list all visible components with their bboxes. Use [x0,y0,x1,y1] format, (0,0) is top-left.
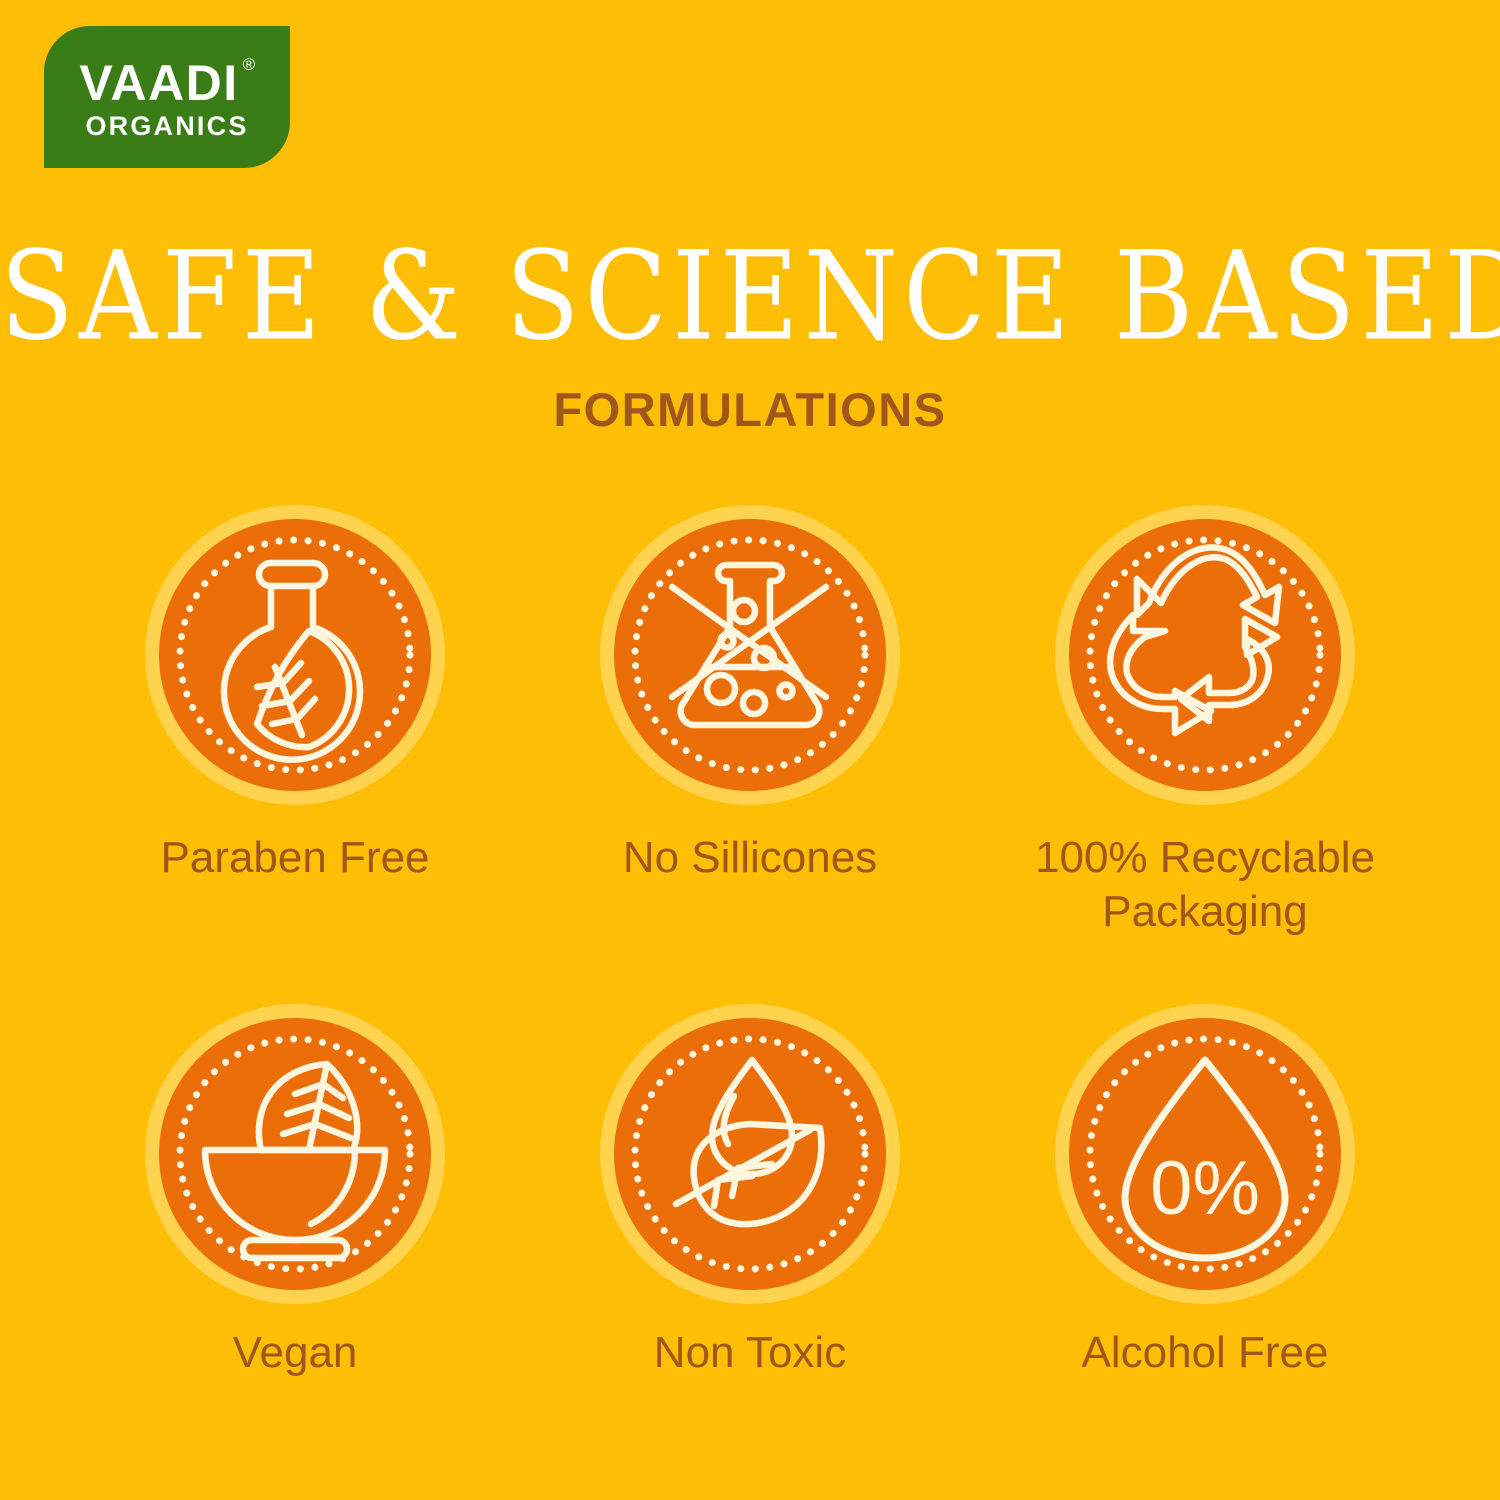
page-title: SAFE & SCIENCE BASED [0,236,1500,359]
badge-circle [145,505,445,805]
flask-leaf-icon [159,519,431,791]
recycle-icon [1069,519,1341,791]
brand-name: VAADI® [79,59,254,108]
droplet-zero-label: 0% [1150,1146,1260,1231]
brand-logo: VAADI® ORGANICS [44,26,290,168]
badge-label: No Sillicones [623,831,877,885]
badge-label: Vegan [233,1326,358,1380]
badge-label: Non Toxic [654,1326,846,1380]
badge-item-vegan: Vegan [68,1004,523,1380]
badge-item-non-toxic: Non Toxic [523,1004,978,1380]
page-subtitle: FORMULATIONS [0,386,1500,433]
badge-circle [600,505,900,805]
badge-circle [145,1004,445,1304]
badge-item-paraben-free: Paraben Free [68,505,523,885]
badge-row-bottom: Vegan [0,1004,1500,1380]
brand-tagline: ORGANICS [85,113,248,140]
crossed-flask-icon [614,519,886,791]
badge-circle: 0% [1055,1004,1355,1304]
badge-label: Paraben Free [160,831,429,885]
feature-badge-grid: Paraben Free [0,505,1500,1380]
badge-circle [1055,505,1355,805]
badge-row-top: Paraben Free [0,505,1500,938]
droplet-leaf-icon [614,1018,886,1290]
registered-trademark-icon: ® [243,57,257,74]
badge-label: Alcohol Free [1081,1326,1328,1380]
bowl-leaf-icon [159,1018,431,1290]
badge-item-recyclable: 100% Recyclable Packaging [978,505,1433,938]
badge-item-alcohol-free: 0% Alcohol Free [978,1004,1433,1380]
badge-circle [600,1004,900,1304]
brand-name-text: VAADI [79,55,238,111]
droplet-zero-icon: 0% [1069,1018,1341,1290]
badge-label: 100% Recyclable Packaging [990,831,1420,938]
badge-item-no-sillicones: No Sillicones [523,505,978,885]
